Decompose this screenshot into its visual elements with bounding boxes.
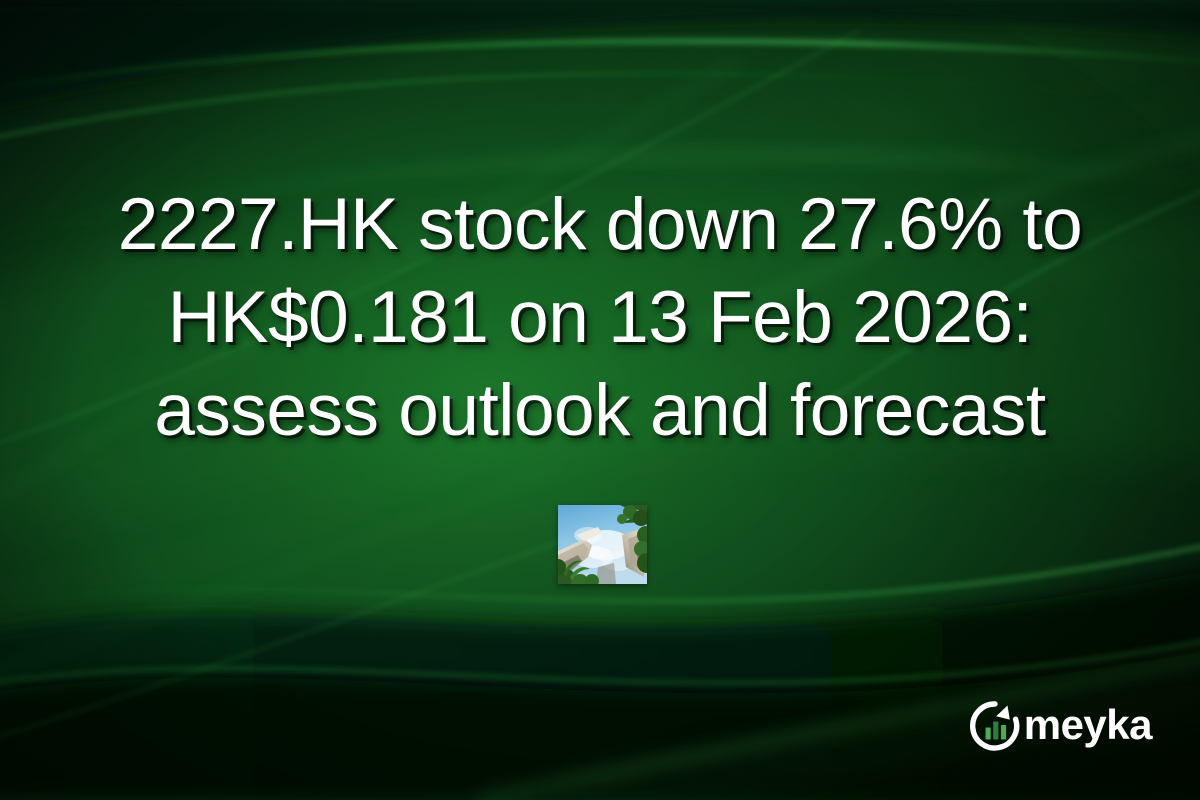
skyscrapers-looking-up-icon bbox=[558, 505, 647, 584]
headline: 2227.HK stock down 27.6% to HK$0.181 on … bbox=[0, 178, 1200, 457]
meyka-wordmark: meyka bbox=[1024, 704, 1152, 749]
headline-line-2: HK$0.181 on 13 Feb 2026: bbox=[34, 271, 1166, 364]
meyka-bar-chart-ring-icon bbox=[969, 700, 1021, 752]
headline-line-3: assess outlook and forecast bbox=[34, 364, 1166, 457]
article-thumbnail bbox=[558, 505, 647, 584]
social-card: 2227.HK stock down 27.6% to HK$0.181 on … bbox=[0, 0, 1200, 800]
brand-logo[interactable]: meyka bbox=[969, 700, 1152, 752]
headline-line-1: 2227.HK stock down 27.6% to bbox=[34, 178, 1166, 271]
